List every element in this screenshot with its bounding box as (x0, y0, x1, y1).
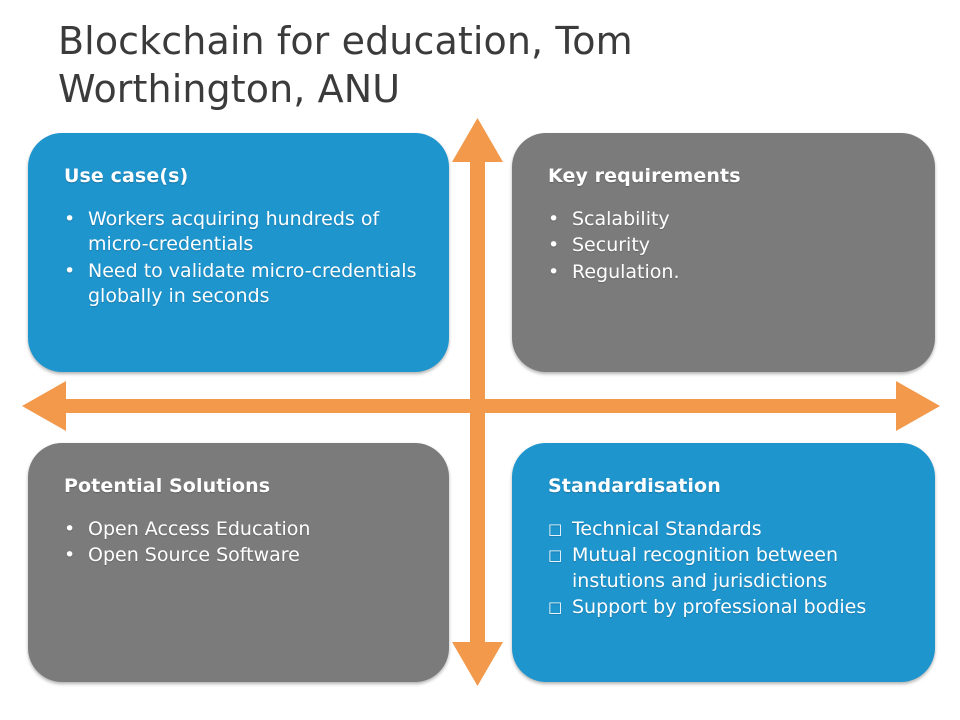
quadrant-potential-solutions[interactable]: Potential Solutions • Open Access Educat… (28, 443, 449, 682)
quadrant-use-cases[interactable]: Use case(s) • Workers acquiring hundreds… (28, 133, 449, 372)
list-item-label: Scalability (572, 207, 905, 232)
vertical-double-arrow (452, 118, 503, 686)
list-item-label: Security (572, 233, 905, 258)
list-item-label: Technical Standards (572, 517, 905, 542)
list-item: □ Technical Standards (548, 517, 905, 542)
bullet-list-potential-solutions: • Open Access Education • Open Source So… (64, 517, 419, 569)
list-item-label: Open Source Software (88, 543, 419, 568)
list-item: • Need to validate micro-credentials glo… (64, 259, 419, 310)
bullet-list-use-cases: • Workers acquiring hundreds of micro-cr… (64, 207, 419, 309)
list-item-label: Workers acquiring hundreds of micro-cred… (88, 207, 419, 258)
bullet-list-key-requirements: • Scalability • Security • Regulation. (548, 207, 905, 285)
quadrant-heading-standardisation: Standardisation (548, 475, 905, 497)
slide-canvas: Blockchain for education, Tom Worthingto… (0, 0, 960, 720)
quadrant-heading-potential-solutions: Potential Solutions (64, 475, 419, 497)
bullet-icon: • (548, 260, 572, 285)
list-item-label: Regulation. (572, 260, 905, 285)
list-item: • Workers acquiring hundreds of micro-cr… (64, 207, 419, 258)
page-title: Blockchain for education, Tom Worthingto… (58, 18, 918, 113)
list-item-label: Open Access Education (88, 517, 419, 542)
list-item-label: Mutual recognition between instutions an… (572, 543, 905, 594)
quadrant-key-requirements[interactable]: Key requirements • Scalability • Securit… (512, 133, 935, 372)
bullet-icon: • (64, 207, 88, 232)
bullet-icon: • (548, 233, 572, 258)
list-item: • Open Source Software (64, 543, 419, 568)
list-item: • Regulation. (548, 260, 905, 285)
list-item: • Security (548, 233, 905, 258)
list-item: • Open Access Education (64, 517, 419, 542)
quadrant-standardisation[interactable]: Standardisation □ Technical Standards □ … (512, 443, 935, 682)
bullet-icon-missing-glyph: □ (548, 543, 572, 568)
bullet-icon: • (64, 543, 88, 568)
bullet-icon-missing-glyph: □ (548, 517, 572, 542)
list-item: □ Mutual recognition between instutions … (548, 543, 905, 594)
list-item-label: Support by professional bodies (572, 595, 905, 620)
bullet-list-standardisation: □ Technical Standards □ Mutual recogniti… (548, 517, 905, 620)
quadrant-heading-use-cases: Use case(s) (64, 165, 419, 187)
bullet-icon-missing-glyph: □ (548, 595, 572, 620)
list-item: □ Support by professional bodies (548, 595, 905, 620)
list-item: • Scalability (548, 207, 905, 232)
quadrant-heading-key-requirements: Key requirements (548, 165, 905, 187)
horizontal-double-arrow (22, 381, 940, 431)
list-item-label: Need to validate micro-credentials globa… (88, 259, 419, 310)
bullet-icon: • (64, 517, 88, 542)
bullet-icon: • (548, 207, 572, 232)
bullet-icon: • (64, 259, 88, 284)
